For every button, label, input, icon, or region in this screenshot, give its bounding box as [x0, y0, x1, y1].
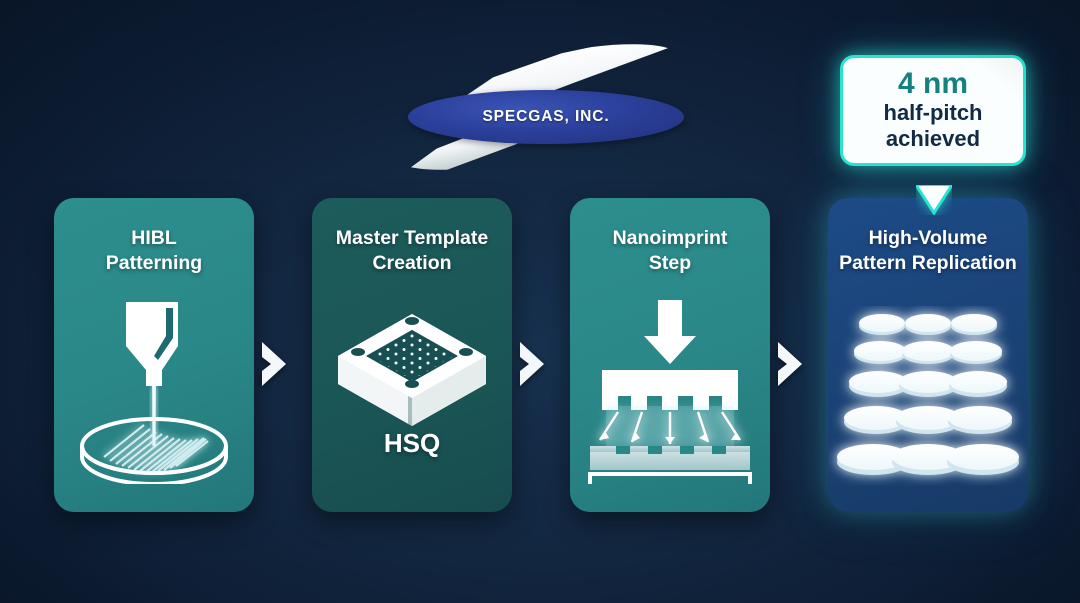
- callout-line-3: achieved: [851, 126, 1015, 152]
- step-card-nanoimprint[interactable]: Nanoimprint Step: [570, 198, 770, 512]
- card-title-high-volume: High-Volume Pattern Replication: [836, 226, 1020, 276]
- achievement-callout: 4 nm half-pitch achieved: [840, 55, 1026, 166]
- callout-headline: 4 nm: [851, 67, 1015, 100]
- isometric-mold-template-icon: [312, 298, 512, 428]
- callout-line-2: half-pitch: [851, 100, 1015, 126]
- step-card-high-volume-replication[interactable]: High-Volume Pattern Replication: [828, 198, 1028, 512]
- chevron-right-icon-3: [775, 340, 805, 388]
- callout-tail-icon: [916, 185, 952, 215]
- callout-bubble: 4 nm half-pitch achieved: [840, 55, 1026, 166]
- process-flow-infographic: SPECGAS, INC. HIBL Patterning: [0, 0, 1080, 603]
- specgas-logo: SPECGAS, INC.: [380, 44, 710, 174]
- logo-oval: SPECGAS, INC.: [408, 90, 684, 144]
- ion-beam-wafer-icon: [54, 294, 254, 484]
- card-title-master-template: Master Template Creation: [320, 226, 504, 276]
- card-title-hibl: HIBL Patterning: [62, 226, 246, 276]
- imprint-stamp-icon: [570, 294, 770, 484]
- chevron-right-icon-2: [517, 340, 547, 388]
- logo-text: SPECGAS, INC.: [482, 108, 609, 126]
- card-title-nanoimprint: Nanoimprint Step: [578, 226, 762, 276]
- step-card-hibl-patterning[interactable]: HIBL Patterning: [54, 198, 254, 512]
- chevron-right-icon-1: [259, 340, 289, 388]
- step-card-master-template-creation[interactable]: Master Template Creation: [312, 198, 512, 512]
- wafer-array-icon: [828, 306, 1028, 486]
- card-subtitle-hsq: HSQ: [312, 428, 512, 459]
